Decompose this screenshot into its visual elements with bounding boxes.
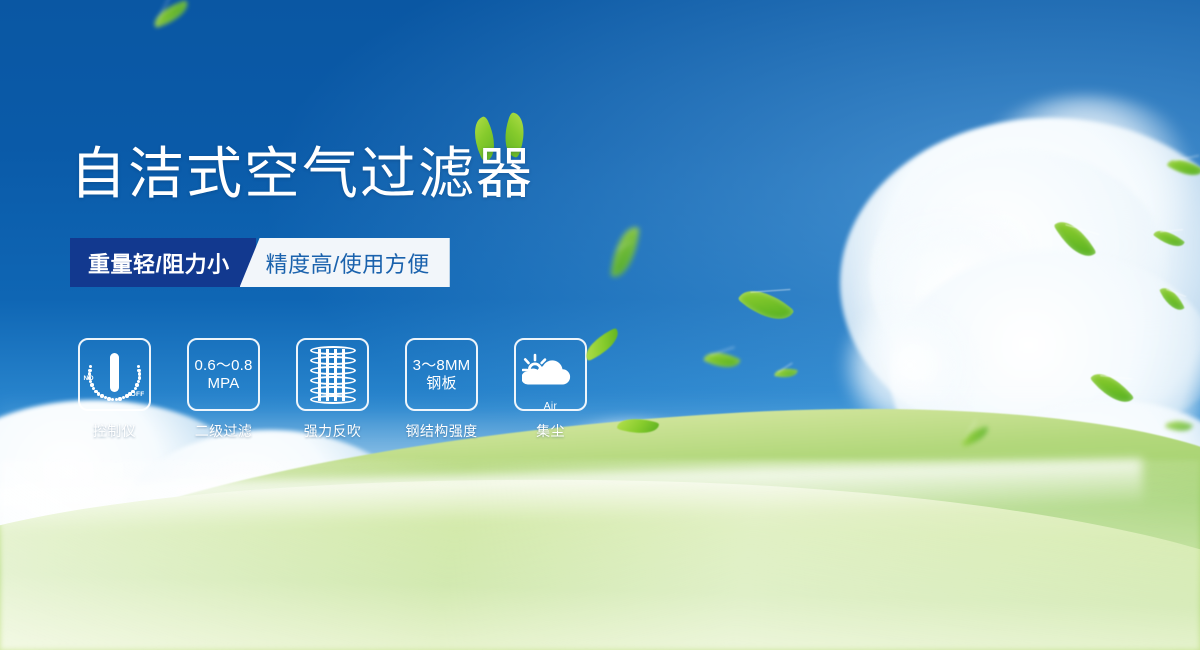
- leaf-icon: [774, 366, 797, 380]
- leaf-icon: [1167, 153, 1200, 183]
- cloud-icon: [870, 150, 1170, 400]
- feature-icon-box: 0.6～0.8 MPA: [187, 338, 260, 411]
- feature-caption: 集尘: [536, 421, 565, 441]
- leaf-icon: [1053, 214, 1096, 265]
- steel-plate-text-icon: 3～8MM 钢板: [413, 357, 471, 392]
- cloud-icon: [850, 205, 1060, 390]
- feature-item-two-stage-filter[interactable]: 0.6～0.8 MPA 二级过滤: [187, 338, 260, 441]
- gauge-tick: [137, 380, 140, 383]
- cloud-icon: [960, 95, 1200, 275]
- hero-banner: 自洁式空气过滤器 重量轻/阻力小 精度高/使用方便 NO OFF 控制仪 0.6…: [0, 0, 1200, 650]
- pressure-value: 0.6～0.8: [194, 357, 252, 374]
- steel-thickness: 3～8MM: [413, 357, 471, 374]
- gauge-tick: [137, 369, 140, 372]
- page-title: 自洁式空气过滤器: [70, 143, 534, 206]
- feature-icon-box: Air: [514, 338, 587, 411]
- gauge-tick: [137, 365, 140, 368]
- leaf-icon: [1153, 224, 1185, 252]
- subtitle-bar: 重量轻/阻力小 精度高/使用方便: [70, 238, 450, 287]
- feature-icon-box: 3～8MM 钢板: [405, 338, 478, 411]
- filter-coil-icon: [310, 346, 356, 404]
- feature-item-pulse-blowback[interactable]: 强力反吹: [296, 338, 369, 441]
- pressure-text-icon: 0.6～0.8 MPA: [194, 357, 252, 392]
- feature-caption: 二级过滤: [195, 421, 253, 441]
- leaf-icon: [738, 279, 795, 332]
- gauge-tick: [135, 383, 138, 386]
- gauge-icon: NO OFF: [84, 344, 146, 406]
- subtitle-tag-right: 精度高/使用方便: [240, 238, 450, 287]
- gauge-tick: [111, 398, 114, 401]
- air-label: Air: [522, 401, 580, 412]
- gauge-tick: [131, 390, 134, 393]
- feature-item-steel-strength[interactable]: 3～8MM 钢板 钢结构强度: [405, 338, 478, 441]
- leaf-icon: [150, 0, 191, 28]
- feature-item-dust-collection[interactable]: Air 集尘: [514, 338, 587, 441]
- grass-sheen: [0, 460, 1200, 650]
- feature-icon-box: [296, 338, 369, 411]
- pressure-unit: MPA: [194, 375, 252, 393]
- gauge-needle: [110, 353, 119, 391]
- steel-material: 钢板: [413, 375, 471, 393]
- gauge-tick: [138, 376, 141, 379]
- gauge-tick: [134, 387, 137, 390]
- feature-list: NO OFF 控制仪 0.6～0.8 MPA 二级过滤: [78, 338, 587, 441]
- leaf-icon: [610, 225, 639, 280]
- gauge-tick: [138, 372, 141, 375]
- leaf-icon: [1159, 283, 1185, 314]
- feature-caption: 钢结构强度: [406, 421, 478, 441]
- feature-caption: 控制仪: [93, 421, 136, 441]
- gauge-tick: [89, 365, 92, 368]
- feature-caption: 强力反吹: [304, 421, 362, 441]
- cloud-sun-icon: Air: [522, 351, 580, 399]
- subtitle-tag-left: 重量轻/阻力小: [70, 238, 256, 287]
- leaf-icon: [703, 346, 741, 374]
- feature-item-control-meter[interactable]: NO OFF 控制仪: [78, 338, 151, 441]
- feature-icon-box: NO OFF: [78, 338, 151, 411]
